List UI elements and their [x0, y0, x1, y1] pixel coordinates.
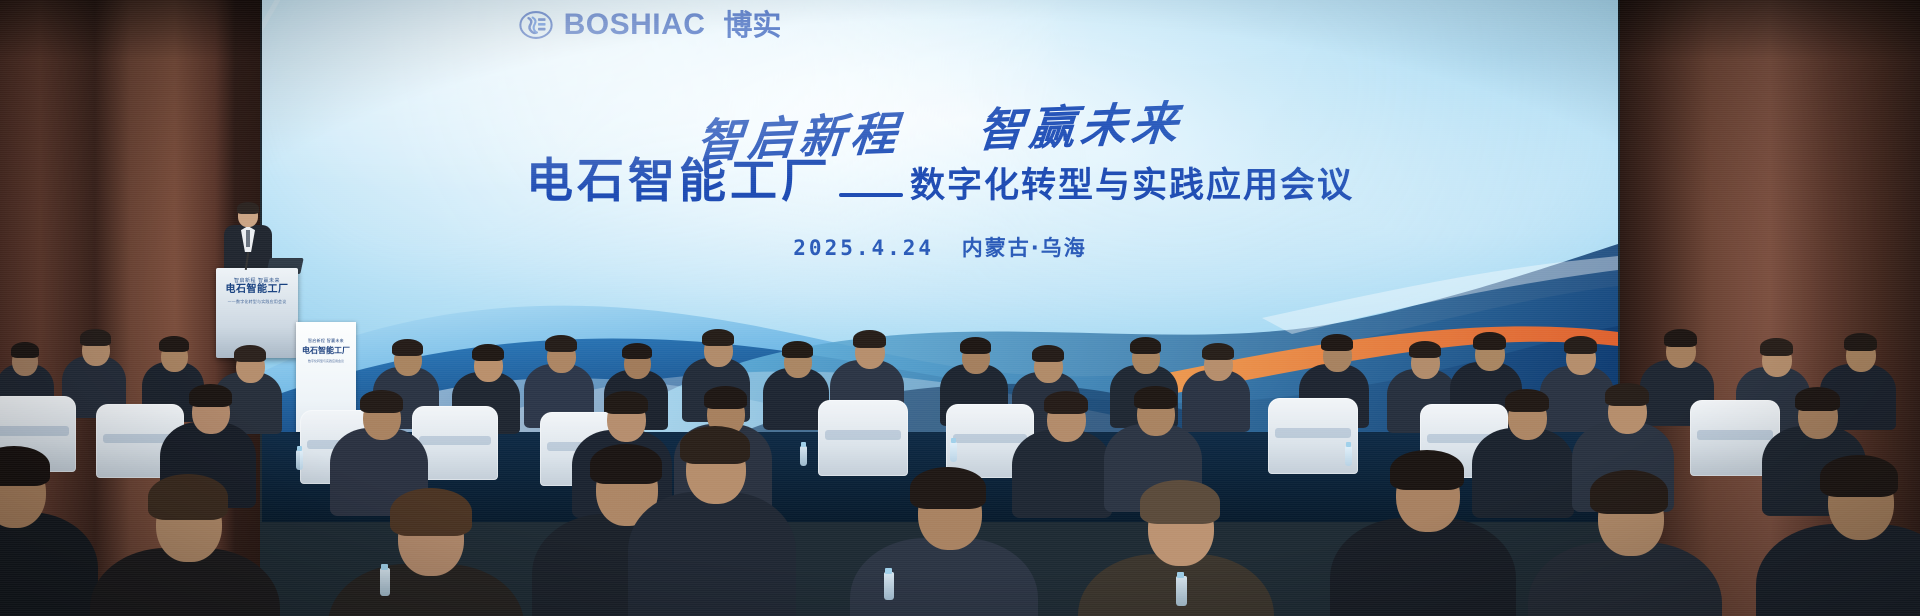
brand-chinese-text: 博实: [723, 11, 781, 40]
audience-area: [0, 300, 1920, 616]
speaker-hair: [237, 202, 259, 214]
water-bottle: [884, 572, 894, 600]
water-bottle: [950, 442, 957, 462]
chair: [818, 400, 908, 476]
boshiac-emblem-icon: [519, 8, 553, 42]
podium-sign-line2: 电石智能工厂: [216, 284, 298, 297]
event-title-sub: 数字化转型与实践应用会议: [910, 169, 1354, 204]
podium-sign-line1: 智启新程 智赢未来: [216, 278, 298, 284]
brand-latin-text: BOSHIAC: [564, 10, 706, 40]
water-bottle: [296, 450, 303, 470]
water-bottle: [800, 446, 807, 466]
event-title: 电石智能工厂 数字化转型与实践应用会议: [262, 158, 1618, 209]
calligraphy-right: 智赢未来: [976, 96, 1185, 158]
title-dash: [839, 193, 903, 197]
water-bottle: [380, 568, 390, 596]
conference-photo: BOSHIAC 博实 智启新程 智赢未来 电石智能工厂 数字化转型与实践应用会议…: [0, 0, 1920, 616]
speaker-at-podium: [222, 204, 274, 274]
water-bottle: [1345, 446, 1352, 466]
calligraphy-spacer: [921, 147, 955, 148]
brand-logo: BOSHIAC 博实: [262, 8, 1618, 42]
event-title-main: 电石智能工厂: [526, 158, 832, 205]
speaker-tie: [246, 230, 250, 247]
water-bottle: [1176, 576, 1187, 606]
